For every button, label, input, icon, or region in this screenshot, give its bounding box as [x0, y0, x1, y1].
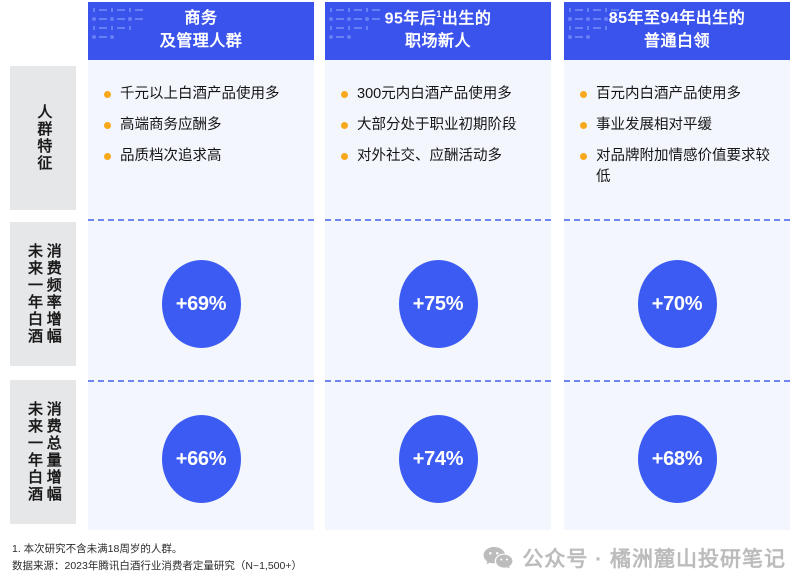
dot-dash-pattern-icon	[91, 5, 151, 45]
list-item: 高端商务应酬多	[102, 115, 304, 136]
column-header: 95年后1出生的 职场新人	[325, 2, 551, 60]
header-line-2: 普通白领	[644, 33, 710, 50]
column-header: 商务 及管理人群	[88, 2, 314, 60]
list-item: 300元内白酒产品使用多	[339, 84, 541, 105]
list-item: 千元以上白酒产品使用多	[102, 84, 304, 105]
header-line-2: 职场新人	[405, 33, 471, 50]
metric-volume-growth: +74%	[325, 388, 551, 530]
row-divider-1	[88, 219, 314, 221]
row-divider-2	[325, 380, 551, 382]
metric-frequency-growth: +75%	[325, 228, 551, 380]
row-label-text-secondary: 未来一年白酒	[25, 243, 42, 345]
column-business-managers: 商务 及管理人群 千元以上白酒产品使用多 高端商务应酬多 品质档次追求高 +69…	[88, 0, 314, 530]
metric-bubble: +69%	[162, 260, 241, 348]
row-label-text-primary: 消费频率增幅	[44, 243, 61, 345]
list-item: 对外社交、应酬活动多	[339, 146, 541, 167]
row-label-audience-traits: 人群特征	[10, 66, 76, 210]
row-divider-2	[88, 380, 314, 382]
header-line-1-tail: 出生的	[442, 10, 492, 27]
list-item: 百元内白酒产品使用多	[578, 84, 780, 105]
list-item: 事业发展相对平缓	[578, 115, 780, 136]
row-divider-1	[564, 219, 790, 221]
row-divider-2	[564, 380, 790, 382]
column-85-94-white-collar: 85年至94年出生的 普通白领 百元内白酒产品使用多 事业发展相对平缓 对品牌附…	[564, 0, 790, 530]
column-body: 千元以上白酒产品使用多 高端商务应酬多 品质档次追求高 +69% +66%	[88, 60, 314, 530]
footnote-source: 数据来源：2023年腾讯白酒行业消费者定量研究（N~1,500+）	[12, 558, 302, 575]
metric-bubble: +66%	[162, 415, 241, 503]
list-item: 大部分处于职业初期阶段	[339, 115, 541, 136]
watermark-text: 公众号 · 橘洲麓山投研笔记	[522, 543, 786, 573]
row-label-text-primary: 消费总量增幅	[44, 401, 61, 503]
feature-list: 千元以上白酒产品使用多 高端商务应酬多 品质档次追求高	[102, 84, 304, 177]
row-divider-1	[325, 219, 551, 221]
footnote-1: 1. 本次研究不含未满18周岁的人群。	[12, 541, 302, 558]
column-header-text: 85年至94年出生的 普通白领	[603, 8, 752, 53]
column-header-text: 95年后1出生的 职场新人	[379, 8, 498, 54]
row-label-text-secondary: 未来一年白酒	[25, 401, 42, 503]
metric-volume-growth: +66%	[88, 388, 314, 530]
metric-volume-growth: +68%	[564, 388, 790, 530]
header-line-1: 85年至94年出生的	[609, 10, 746, 27]
feature-list: 百元内白酒产品使用多 事业发展相对平缓 对品牌附加情感价值要求较低	[578, 84, 780, 198]
metric-frequency-growth: +69%	[88, 228, 314, 380]
column-post95-newcomers: 95年后1出生的 职场新人 300元内白酒产品使用多 大部分处于职业初期阶段 对…	[325, 0, 551, 530]
row-label-frequency-growth: 消费频率增幅 未来一年白酒	[10, 222, 76, 366]
column-header: 85年至94年出生的 普通白领	[564, 2, 790, 60]
header-line-1: 95年后	[385, 10, 437, 27]
metric-bubble: +68%	[638, 415, 717, 503]
feature-list: 300元内白酒产品使用多 大部分处于职业初期阶段 对外社交、应酬活动多	[339, 84, 541, 177]
column-header-text: 商务 及管理人群	[154, 8, 249, 53]
footnotes: 1. 本次研究不含未满18周岁的人群。 数据来源：2023年腾讯白酒行业消费者定…	[12, 541, 302, 575]
comparison-board: 人群特征 消费频率增幅 未来一年白酒 消费总量增幅 未来一年白酒	[0, 0, 800, 530]
metric-bubble: +74%	[399, 415, 478, 503]
row-label-volume-growth: 消费总量增幅 未来一年白酒	[10, 380, 76, 524]
wechat-icon	[483, 546, 513, 570]
header-line-2: 及管理人群	[160, 33, 243, 50]
metric-bubble: +70%	[638, 260, 717, 348]
column-body: 百元内白酒产品使用多 事业发展相对平缓 对品牌附加情感价值要求较低 +70% +…	[564, 60, 790, 530]
metric-frequency-growth: +70%	[564, 228, 790, 380]
list-item: 品质档次追求高	[102, 146, 304, 167]
row-label-text: 人群特征	[35, 104, 52, 172]
watermark: 公众号 · 橘洲麓山投研笔记	[483, 543, 786, 573]
metric-bubble: +75%	[399, 260, 478, 348]
header-line-1: 商务	[184, 10, 217, 27]
list-item: 对品牌附加情感价值要求较低	[578, 146, 780, 188]
column-body: 300元内白酒产品使用多 大部分处于职业初期阶段 对外社交、应酬活动多 +75%…	[325, 60, 551, 530]
